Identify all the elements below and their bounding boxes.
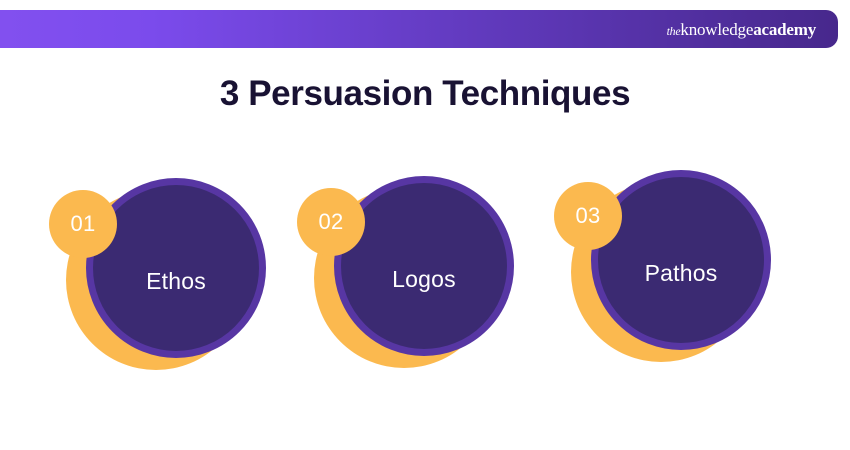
technique-cards-row: Ethos 01 Logos 02 Pathos 03: [0, 160, 850, 370]
step-number: 02: [318, 209, 343, 235]
technique-label: Ethos: [146, 268, 206, 295]
technique-card-logos[interactable]: Logos 02: [286, 166, 536, 371]
circle-main: Logos: [334, 176, 514, 356]
brand-logo-academy: academy: [753, 20, 816, 39]
step-number-badge: 01: [49, 190, 117, 258]
step-number-badge: 03: [554, 182, 622, 250]
step-number-badge: 02: [297, 188, 365, 256]
brand-logo: theknowledgeacademy: [667, 21, 816, 38]
technique-card-pathos[interactable]: Pathos 03: [543, 160, 793, 365]
brand-logo-the: the: [667, 24, 681, 38]
technique-label: Pathos: [645, 260, 718, 287]
header-bar: theknowledgeacademy: [0, 10, 838, 48]
step-number: 03: [575, 203, 600, 229]
technique-label: Logos: [392, 266, 456, 293]
technique-card-ethos[interactable]: Ethos 01: [38, 168, 288, 373]
circle-main: Ethos: [86, 178, 266, 358]
brand-logo-knowledge: knowledge: [680, 20, 753, 39]
page-title: 3 Persuasion Techniques: [0, 74, 850, 114]
circle-main: Pathos: [591, 170, 771, 350]
step-number: 01: [70, 211, 95, 237]
